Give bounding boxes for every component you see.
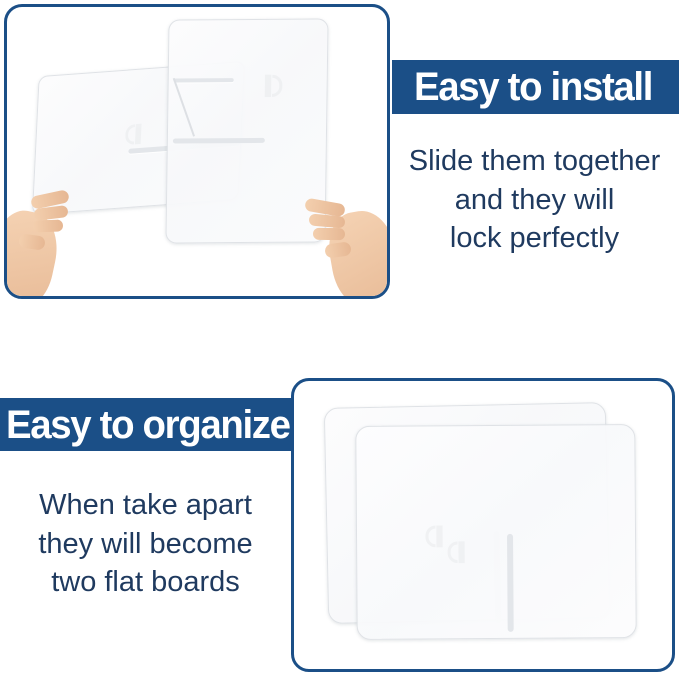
banner-organize-label: Easy to organize bbox=[6, 405, 290, 445]
finger bbox=[313, 228, 345, 241]
photo-panel-organize bbox=[291, 378, 675, 672]
hand-left bbox=[4, 189, 83, 299]
acrylic-board-front bbox=[355, 424, 636, 640]
finger bbox=[309, 213, 346, 228]
slot-right-board-lower bbox=[173, 138, 265, 144]
photo-panel-install bbox=[4, 4, 390, 299]
banner-easy-to-organize: Easy to organize bbox=[0, 398, 291, 451]
slot-right-board bbox=[174, 78, 234, 82]
infographic-canvas: Easy to install Slide them together and … bbox=[0, 0, 679, 678]
logo-icon bbox=[425, 525, 442, 547]
logo-icon bbox=[265, 75, 283, 98]
finger bbox=[33, 205, 68, 221]
banner-easy-to-install: Easy to install bbox=[392, 60, 679, 114]
slot-front-board bbox=[507, 534, 514, 632]
logo-icon bbox=[125, 124, 142, 145]
caption-install: Slide them together and they will lock p… bbox=[390, 142, 679, 258]
finger bbox=[33, 219, 63, 232]
hand-right bbox=[307, 193, 390, 299]
caption-organize: When take apart they will become two fla… bbox=[2, 486, 289, 602]
logo-icon bbox=[447, 541, 464, 563]
board-seam bbox=[173, 78, 195, 137]
acrylic-board-right bbox=[165, 18, 328, 243]
banner-install-label: Easy to install bbox=[414, 67, 652, 107]
